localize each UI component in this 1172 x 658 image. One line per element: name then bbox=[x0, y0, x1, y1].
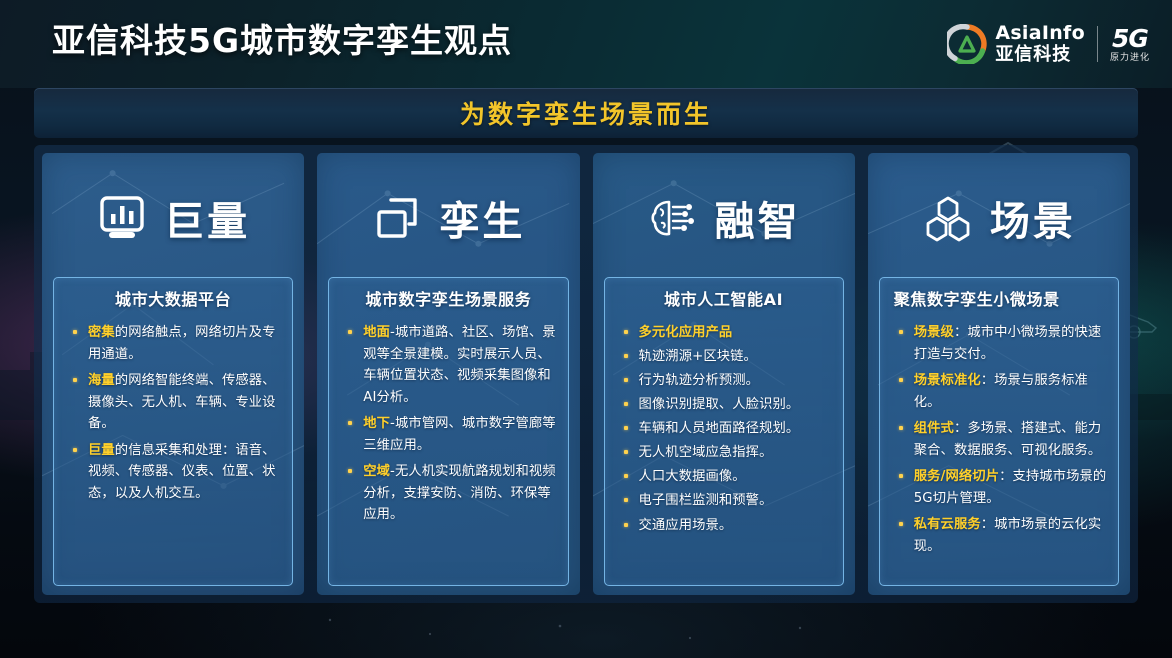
asiainfo-circle-logo-icon bbox=[947, 24, 987, 64]
card-rongzhi[interactable]: 融智 城市人工智能AI 多元化应用产品 轨迹溯源+区块链。 行为轨迹分析预测。 … bbox=[593, 153, 855, 595]
brand-logo: AsiaInfo 亚信科技 5G 原力进化 bbox=[947, 18, 1150, 70]
card-bullet-list: 场景级：城市中小微场景的快速打造与交付。 场景标准化：场景与服务标准化。 组件式… bbox=[880, 318, 1118, 570]
card-title: 融智 bbox=[715, 189, 801, 247]
list-item: 服务/网络切片：支持城市场景的5G切片管理。 bbox=[892, 466, 1107, 509]
list-item: 无人机空域应急指挥。 bbox=[617, 442, 832, 464]
list-item: 巨量的信息采集和处理：语音、视频、传感器、仪表、位置、状态，以及人机交互。 bbox=[66, 440, 281, 505]
card-header: 场景 bbox=[868, 153, 1130, 277]
card-bullet-list: 地面-城市道路、社区、场馆、景观等全景建模。实时展示人员、车辆位置状态、视频采集… bbox=[329, 318, 567, 539]
bullet-text: 图像识别提取、人脸识别。 bbox=[639, 397, 800, 412]
card-title: 场景 bbox=[990, 189, 1076, 247]
card-content-box: 城市数字孪生场景服务 地面-城市道路、社区、场馆、景观等全景建模。实时展示人员、… bbox=[328, 277, 568, 586]
bullet-highlight: 地面 bbox=[363, 325, 390, 340]
bullet-highlight: 空域 bbox=[363, 464, 390, 479]
slide-root: 亚信科技5G城市数字孪生观点 AsiaInfo 亚信科技 5G 原力进化 为数字… bbox=[0, 0, 1172, 658]
bullet-text: 无人机空域应急指挥。 bbox=[639, 445, 773, 460]
card-header: 巨量 bbox=[42, 153, 304, 277]
subtitle-banner-text: 为数字孪生场景而生 bbox=[460, 95, 712, 131]
card-luansheng[interactable]: 孪生 城市数字孪生场景服务 地面-城市道路、社区、场馆、景观等全景建模。实时展示… bbox=[317, 153, 579, 595]
card-header: 孪生 bbox=[317, 153, 579, 277]
list-item: 图像识别提取、人脸识别。 bbox=[617, 394, 832, 416]
bullet-text: -城市管网、城市数字管廊等三维应用。 bbox=[363, 416, 555, 453]
bullet-text: 的网络触点，网络切片及专用通道。 bbox=[88, 325, 276, 362]
card-title: 巨量 bbox=[164, 189, 250, 247]
bullet-text: -无人机实现航路规划和视频分析，支撑安防、消防、环保等应用。 bbox=[363, 464, 555, 522]
bullet-text: 电子围栏监测和预警。 bbox=[639, 493, 773, 508]
list-item: 行为轨迹分析预测。 bbox=[617, 370, 832, 392]
card-subtitle: 聚焦数字孪生小微场景 bbox=[880, 278, 1118, 318]
card-subtitle: 城市数字孪生场景服务 bbox=[329, 278, 567, 318]
logo-divider bbox=[1097, 26, 1098, 62]
list-item: 轨迹溯源+区块链。 bbox=[617, 346, 832, 368]
list-item: 电子围栏监测和预警。 bbox=[617, 490, 832, 512]
bullet-highlight: 巨量 bbox=[88, 443, 115, 458]
bullet-highlight: 组件式 bbox=[914, 421, 954, 436]
list-item: 密集的网络触点，网络切片及专用通道。 bbox=[66, 322, 281, 365]
brand-chinese-name: 亚信科技 bbox=[995, 46, 1085, 64]
brain-ai-icon bbox=[647, 192, 699, 244]
card-subtitle: 城市大数据平台 bbox=[54, 278, 292, 318]
list-item: 私有云服务：城市场景的云化实现。 bbox=[892, 514, 1107, 557]
bullet-highlight: 地下 bbox=[363, 416, 390, 431]
list-item: 交通应用场景。 bbox=[617, 515, 832, 537]
brand-wordmark: AsiaInfo 亚信科技 bbox=[995, 24, 1085, 64]
card-content-box: 城市人工智能AI 多元化应用产品 轨迹溯源+区块链。 行为轨迹分析预测。 图像识… bbox=[604, 277, 844, 586]
bullet-text: 交通应用场景。 bbox=[639, 518, 733, 533]
list-item: 场景级：城市中小微场景的快速打造与交付。 bbox=[892, 322, 1107, 365]
cards-row: 巨量 城市大数据平台 密集的网络触点，网络切片及专用通道。 海量的网络智能终端、… bbox=[42, 153, 1130, 595]
card-content-box: 聚焦数字孪生小微场景 场景级：城市中小微场景的快速打造与交付。 场景标准化：场景… bbox=[879, 277, 1119, 586]
card-header: 融智 bbox=[593, 153, 855, 277]
list-item: 海量的网络智能终端、传感器、摄像头、无人机、车辆、专业设备。 bbox=[66, 370, 281, 435]
bullet-highlight: 私有云服务 bbox=[914, 517, 981, 532]
page-title: 亚信科技5G城市数字孪生观点 bbox=[52, 14, 512, 62]
list-item: 地面-城市道路、社区、场馆、景观等全景建模。实时展示人员、车辆位置状态、视频采集… bbox=[341, 322, 556, 408]
hexagon-cluster-icon bbox=[922, 192, 974, 244]
header-bar: 亚信科技5G城市数字孪生观点 AsiaInfo 亚信科技 5G 原力进化 bbox=[0, 0, 1172, 88]
bullet-text: 的信息采集和处理：语音、视频、传感器、仪表、位置、状态，以及人机交互。 bbox=[88, 443, 276, 501]
list-item: 地下-城市管网、城市数字管廊等三维应用。 bbox=[341, 413, 556, 456]
list-item: 组件式：多场景、搭建式、能力聚合、数据服务、可视化服务。 bbox=[892, 418, 1107, 461]
bullet-text: 轨迹溯源+区块链。 bbox=[639, 349, 757, 364]
bullet-text: 的网络智能终端、传感器、摄像头、无人机、车辆、专业设备。 bbox=[88, 373, 276, 431]
bullet-text: 车辆和人员地面路径规划。 bbox=[639, 421, 800, 436]
five-g-tagline: 原力进化 bbox=[1110, 54, 1150, 63]
twin-squares-icon bbox=[371, 192, 423, 244]
bullet-text: 行为轨迹分析预测。 bbox=[639, 373, 760, 388]
bullet-highlight: 场景标准化 bbox=[914, 373, 981, 388]
list-item: 人口大数据画像。 bbox=[617, 466, 832, 488]
card-title: 孪生 bbox=[439, 189, 525, 247]
bullet-text: 人口大数据画像。 bbox=[639, 469, 746, 484]
card-bullet-list: 多元化应用产品 轨迹溯源+区块链。 行为轨迹分析预测。 图像识别提取、人脸识别。… bbox=[605, 318, 843, 547]
list-item: 车辆和人员地面路径规划。 bbox=[617, 418, 832, 440]
five-g-label: 5G bbox=[1112, 26, 1148, 51]
list-item: 多元化应用产品 bbox=[617, 322, 832, 344]
list-item: 场景标准化：场景与服务标准化。 bbox=[892, 370, 1107, 413]
five-g-badge: 5G 原力进化 bbox=[1110, 26, 1150, 63]
cards-panel: 巨量 城市大数据平台 密集的网络触点，网络切片及专用通道。 海量的网络智能终端、… bbox=[34, 145, 1138, 603]
card-juliang[interactable]: 巨量 城市大数据平台 密集的网络触点，网络切片及专用通道。 海量的网络智能终端、… bbox=[42, 153, 304, 595]
bullet-highlight: 服务/网络切片 bbox=[914, 469, 999, 484]
bullet-highlight: 多元化应用产品 bbox=[639, 325, 733, 340]
card-changjing[interactable]: 场景 聚焦数字孪生小微场景 场景级：城市中小微场景的快速打造与交付。 场景标准化… bbox=[868, 153, 1130, 595]
card-content-box: 城市大数据平台 密集的网络触点，网络切片及专用通道。 海量的网络智能终端、传感器… bbox=[53, 277, 293, 586]
brand-english-name: AsiaInfo bbox=[995, 24, 1085, 43]
bullet-highlight: 海量 bbox=[88, 373, 115, 388]
subtitle-banner: 为数字孪生场景而生 bbox=[34, 88, 1138, 138]
card-subtitle: 城市人工智能AI bbox=[605, 278, 843, 318]
bullet-highlight: 场景级 bbox=[914, 325, 954, 340]
bar-chart-icon bbox=[96, 192, 148, 244]
bullet-highlight: 密集 bbox=[88, 325, 115, 340]
list-item: 空域-无人机实现航路规划和视频分析，支撑安防、消防、环保等应用。 bbox=[341, 461, 556, 526]
card-bullet-list: 密集的网络触点，网络切片及专用通道。 海量的网络智能终端、传感器、摄像头、无人机… bbox=[54, 318, 292, 517]
bullet-text: -城市道路、社区、场馆、景观等全景建模。实时展示人员、车辆位置状态、视频采集图像… bbox=[363, 325, 555, 405]
